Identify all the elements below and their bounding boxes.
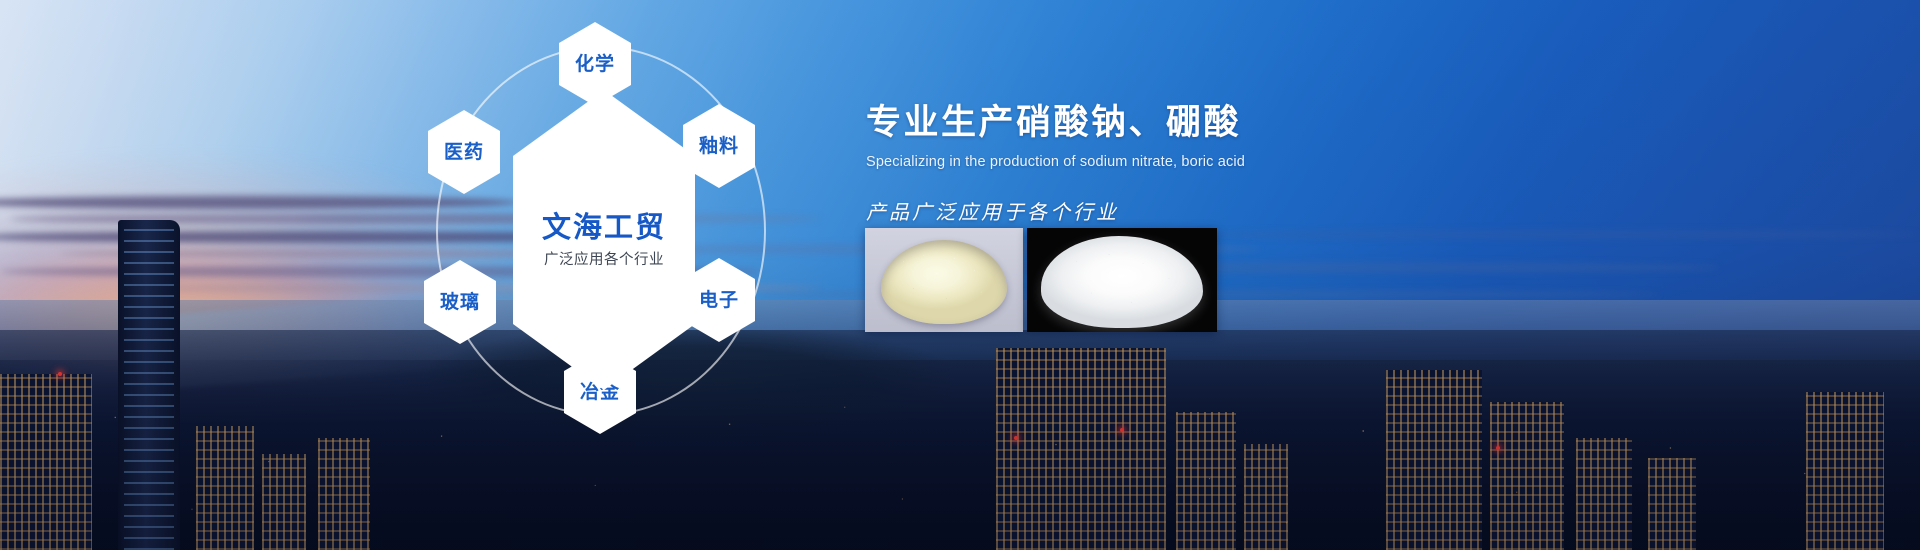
headline-block: 专业生产硝酸钠、硼酸 Specializing in the productio…: [866, 104, 1506, 225]
hex-label: 电子: [699, 291, 739, 310]
industry-hexagon-diagram: 化学 釉料 医药 玻璃 电子 冶金 文海工贸 广泛应用各个行业: [418, 22, 810, 442]
company-slogan: 广泛应用各个行业: [544, 253, 664, 268]
hex-label: 医药: [444, 143, 484, 162]
english-subtitle: Specializing in the production of sodium…: [866, 154, 1506, 170]
page-title: 专业生产硝酸钠、硼酸: [866, 104, 1506, 143]
beacon-light: [1120, 428, 1124, 432]
hex-label: 釉料: [699, 137, 739, 156]
cloud-streak: [900, 262, 1720, 273]
beacon-light: [58, 372, 62, 376]
product-photo-sodium-nitrate[interactable]: [865, 228, 1023, 332]
beacon-light: [1014, 436, 1018, 440]
hex-label: 化学: [575, 55, 615, 74]
promo-banner: 化学 釉料 医药 玻璃 电子 冶金 文海工贸 广泛应用各个行业 专业生产硝酸钠、…: [0, 0, 1920, 550]
company-name: 文海工贸: [542, 213, 666, 242]
cloud-streak: [1180, 230, 1920, 239]
hex-label: 玻璃: [440, 293, 480, 312]
city-lights: [0, 380, 1920, 550]
product-photo-boric-acid[interactable]: [1027, 228, 1217, 332]
beacon-light: [1496, 446, 1500, 450]
tagline: 产品广泛应用于各个行业: [866, 196, 1506, 225]
